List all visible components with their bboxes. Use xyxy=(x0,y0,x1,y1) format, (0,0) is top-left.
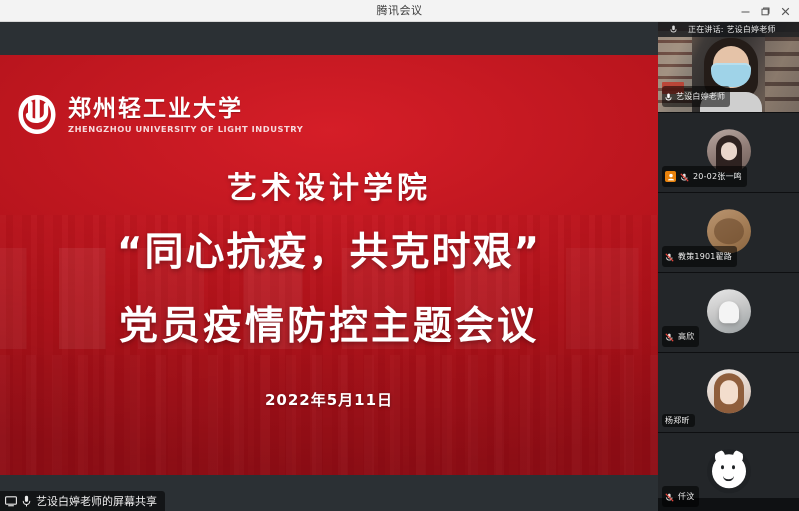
speaking-now-banner: 正在讲话: 艺设白婷老师 xyxy=(658,22,799,37)
participant-tile[interactable]: 20-02张一鸣 xyxy=(658,113,799,193)
slide-text-block: 艺术设计学院 “同心抗疫，共克时艰” 党员疫情防控主题会议 2022年5月11日 xyxy=(0,163,658,410)
host-person-icon xyxy=(665,171,676,182)
tencent-meeting-window: 腾讯会议 xyxy=(0,0,799,511)
person-face-mask xyxy=(711,63,751,87)
minimize-icon xyxy=(740,6,751,17)
participant-name-chip: 高欣 xyxy=(662,326,699,347)
close-icon xyxy=(780,6,791,17)
university-name-cn: 郑州轻工业大学 xyxy=(68,96,303,121)
participant-name-chip: 艺设白婷老师 xyxy=(662,86,730,107)
presentation-slide: 郑州轻工业大学 ZHENGZHOU UNIVERSITY OF LIGHT IN… xyxy=(0,55,658,475)
participant-name: 杨郑昕 xyxy=(665,415,690,426)
participant-name: 高欣 xyxy=(678,331,694,342)
university-logo: 郑州轻工业大学 ZHENGZHOU UNIVERSITY OF LIGHT IN… xyxy=(16,93,303,137)
participant-rail[interactable]: 正在讲话: 艺设白婷老师 艺设白婷老师 xyxy=(658,22,799,511)
participant-name-chip: 杨郑昕 xyxy=(662,414,695,427)
microphone-muted-icon xyxy=(665,247,674,266)
microphone-muted-icon xyxy=(665,327,674,346)
window-titlebar[interactable]: 腾讯会议 xyxy=(0,0,799,22)
participant-tile[interactable]: 教策1901翟路 xyxy=(658,193,799,273)
participant-name-chip: 教策1901翟路 xyxy=(662,246,737,267)
university-emblem-icon xyxy=(16,93,58,137)
participant-name: 20-02张一鸣 xyxy=(693,171,742,182)
screen-share-label: 艺设白婷老师的屏幕共享 xyxy=(36,493,157,509)
maximize-button[interactable] xyxy=(755,1,775,21)
window-controls xyxy=(735,0,795,22)
slide-title-slogan: “同心抗疫，共克时艰” xyxy=(0,221,658,277)
restore-icon xyxy=(760,6,771,17)
slide-title-main: 党员疫情防控主题会议 xyxy=(0,295,658,351)
shared-screen-stage[interactable]: 郑州轻工业大学 ZHENGZHOU UNIVERSITY OF LIGHT IN… xyxy=(0,22,658,511)
participant-name-chip: 仟汶 xyxy=(662,486,699,507)
avatar-face xyxy=(720,380,738,404)
avatar xyxy=(707,289,751,333)
avatar xyxy=(707,369,751,413)
monitor-icon xyxy=(5,496,17,507)
microphone-icon xyxy=(22,495,31,507)
participant-tile[interactable]: 杨郑昕 xyxy=(658,353,799,433)
slide-date: 2022年5月11日 xyxy=(0,389,658,410)
microphone-muted-icon xyxy=(680,167,689,186)
participant-name: 教策1901翟路 xyxy=(678,251,732,262)
avatar-face xyxy=(721,142,737,160)
close-button[interactable] xyxy=(775,1,795,21)
university-logo-text: 郑州轻工业大学 ZHENGZHOU UNIVERSITY OF LIGHT IN… xyxy=(68,96,303,134)
microphone-icon xyxy=(665,87,672,106)
avatar-eye-right xyxy=(732,465,735,469)
university-name-en: ZHENGZHOU UNIVERSITY OF LIGHT INDUSTRY xyxy=(68,124,303,134)
avatar-shape xyxy=(714,218,744,244)
avatar xyxy=(707,449,751,493)
participant-name: 艺设白婷老师 xyxy=(676,91,725,102)
avatar-shape xyxy=(719,301,739,323)
screen-share-indicator: 艺设白婷老师的屏幕共享 xyxy=(0,491,165,511)
participant-name: 仟汶 xyxy=(678,491,694,502)
minimize-button[interactable] xyxy=(735,1,755,21)
speaking-now-label: 正在讲话: 艺设白婷老师 xyxy=(688,24,776,35)
participant-tile-speaker[interactable]: 正在讲话: 艺设白婷老师 艺设白婷老师 xyxy=(658,22,799,113)
microphone-muted-icon xyxy=(665,487,674,506)
avatar-eye-left xyxy=(721,465,724,469)
slide-subtitle-college: 艺术设计学院 xyxy=(0,163,658,207)
participant-name-chip: 20-02张一鸣 xyxy=(662,166,747,187)
window-title: 腾讯会议 xyxy=(0,0,799,22)
webcam-background-right xyxy=(765,32,799,112)
participant-tile[interactable]: 高欣 xyxy=(658,273,799,353)
